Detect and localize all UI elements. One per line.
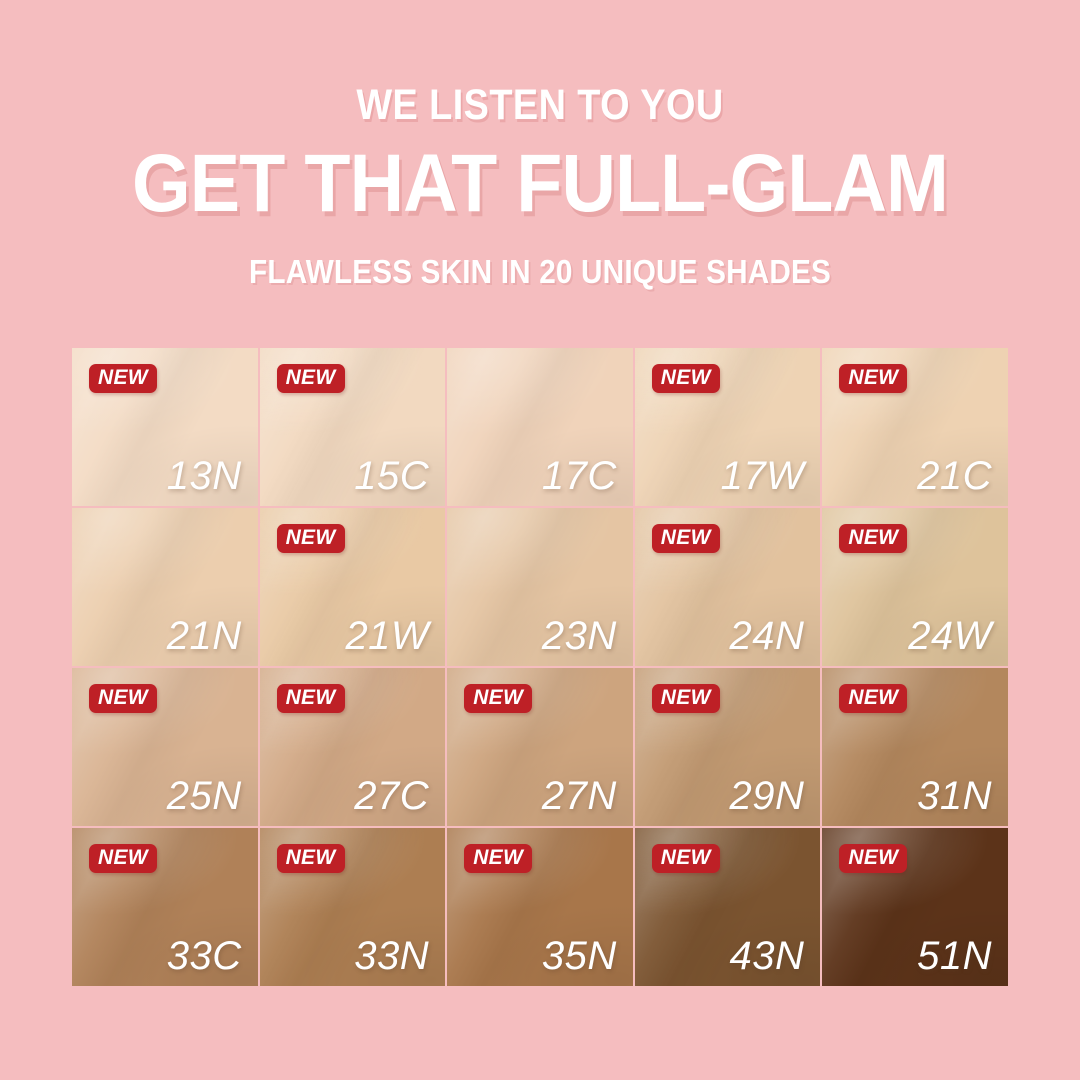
shade-code-label: 21C <box>917 456 992 496</box>
shade-swatch[interactable]: NEW15C <box>260 348 446 506</box>
shade-code-label: 17W <box>721 456 805 496</box>
shade-swatch[interactable]: NEW21W <box>260 508 446 666</box>
shade-code-label: 29N <box>730 776 805 816</box>
shade-code-label: 35N <box>542 936 617 976</box>
new-badge: NEW <box>277 684 345 713</box>
shade-swatch[interactable]: NEW17W <box>635 348 821 506</box>
shade-code-label: 51N <box>917 936 992 976</box>
shade-swatch[interactable]: 23N <box>447 508 633 666</box>
shade-swatch-grid: NEW13NNEW15C17CNEW17WNEW21C21NNEW21W23NN… <box>72 348 1008 986</box>
shade-swatch[interactable]: NEW13N <box>72 348 258 506</box>
new-badge: NEW <box>839 844 907 873</box>
shade-swatch[interactable]: NEW24N <box>635 508 821 666</box>
shade-code-label: 23N <box>542 616 617 656</box>
shade-code-label: 27N <box>542 776 617 816</box>
page-title: GET THAT FULL-GLAM <box>43 143 1037 225</box>
new-badge: NEW <box>464 844 532 873</box>
shade-swatch[interactable]: NEW25N <box>72 668 258 826</box>
shade-swatch[interactable]: NEW33N <box>260 828 446 986</box>
eyebrow-text: WE LISTEN TO YOU <box>65 84 1015 127</box>
shade-code-label: 43N <box>730 936 805 976</box>
shade-range-promo-graphic: WE LISTEN TO YOU GET THAT FULL-GLAM FLAW… <box>0 0 1080 1080</box>
shade-swatch[interactable]: NEW51N <box>822 828 1008 986</box>
shade-swatch[interactable]: NEW33C <box>72 828 258 986</box>
new-badge: NEW <box>652 364 720 393</box>
shade-swatch[interactable]: 21N <box>72 508 258 666</box>
new-badge: NEW <box>89 364 157 393</box>
shade-swatch[interactable]: NEW24W <box>822 508 1008 666</box>
shade-code-label: 25N <box>167 776 242 816</box>
new-badge: NEW <box>839 684 907 713</box>
shade-swatch[interactable]: NEW27N <box>447 668 633 826</box>
new-badge: NEW <box>652 524 720 553</box>
shade-swatch[interactable]: NEW31N <box>822 668 1008 826</box>
shade-code-label: 33N <box>354 936 429 976</box>
shade-code-label: 13N <box>167 456 242 496</box>
new-badge: NEW <box>839 524 907 553</box>
shade-swatch[interactable]: NEW21C <box>822 348 1008 506</box>
new-badge: NEW <box>277 844 345 873</box>
new-badge: NEW <box>277 524 345 553</box>
header-block: WE LISTEN TO YOU GET THAT FULL-GLAM FLAW… <box>0 84 1080 288</box>
new-badge: NEW <box>464 684 532 713</box>
shade-swatch[interactable]: NEW35N <box>447 828 633 986</box>
new-badge: NEW <box>652 844 720 873</box>
shade-code-label: 24W <box>908 616 992 656</box>
shade-swatch[interactable]: NEW27C <box>260 668 446 826</box>
new-badge: NEW <box>652 684 720 713</box>
shade-code-label: 31N <box>917 776 992 816</box>
shade-code-label: 21N <box>167 616 242 656</box>
subtitle-text: FLAWLESS SKIN IN 20 UNIQUE SHADES <box>54 255 1026 288</box>
shade-swatch[interactable]: 17C <box>447 348 633 506</box>
new-badge: NEW <box>89 684 157 713</box>
shade-code-label: 15C <box>354 456 429 496</box>
shade-code-label: 21W <box>345 616 429 656</box>
new-badge: NEW <box>89 844 157 873</box>
shade-code-label: 33C <box>167 936 242 976</box>
new-badge: NEW <box>839 364 907 393</box>
shade-code-label: 24N <box>730 616 805 656</box>
shade-swatch[interactable]: NEW29N <box>635 668 821 826</box>
shade-code-label: 17C <box>542 456 617 496</box>
shade-swatch[interactable]: NEW43N <box>635 828 821 986</box>
shade-code-label: 27C <box>354 776 429 816</box>
new-badge: NEW <box>277 364 345 393</box>
